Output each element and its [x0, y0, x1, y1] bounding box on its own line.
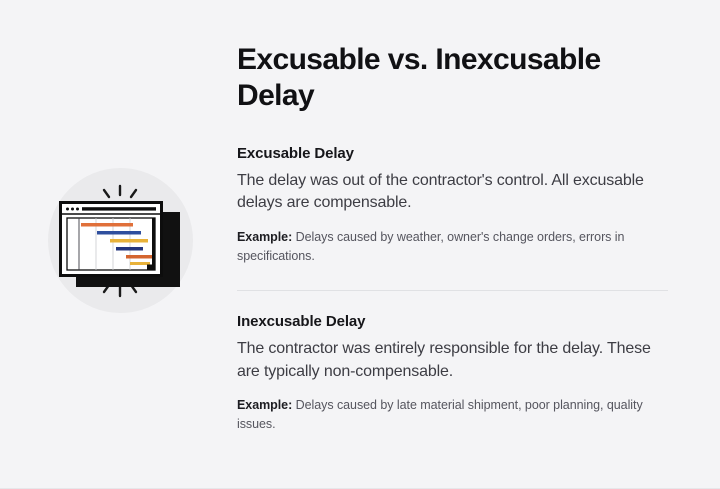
gantt-bar — [97, 231, 141, 235]
example-text-excusable: Delays caused by weather, owner's change… — [237, 230, 624, 263]
example-text-inexcusable: Delays caused by late material shipment,… — [237, 398, 643, 431]
example-label-excusable: Example: — [237, 230, 292, 244]
gantt-bar — [126, 255, 152, 259]
section-divider — [237, 290, 668, 291]
illustration-artwork — [48, 168, 193, 313]
section-body-excusable: The delay was out of the contractor's co… — [237, 170, 667, 215]
gantt-bar — [110, 239, 148, 243]
window-addressbar — [82, 207, 156, 210]
page-title: Excusable vs. Inexcusable Delay — [237, 42, 637, 115]
section-example-excusable: Example: Delays caused by weather, owner… — [237, 228, 649, 266]
gantt-chart-window-illustration — [48, 168, 193, 313]
section-heading-inexcusable: Inexcusable Delay — [237, 313, 668, 330]
burst-marks-top-icon — [104, 186, 136, 197]
gantt-bar — [81, 223, 133, 227]
section-example-inexcusable: Example: Delays caused by late material … — [237, 396, 649, 434]
content-column: Excusable vs. Inexcusable Delay Excusabl… — [225, 0, 720, 489]
section-inexcusable-delay: Inexcusable Delay The contractor was ent… — [237, 313, 668, 434]
gantt-corner-marker — [147, 265, 152, 270]
example-label-inexcusable: Example: — [237, 398, 292, 412]
section-body-inexcusable: The contractor was entirely responsible … — [237, 338, 667, 383]
section-excusable-delay: Excusable Delay The delay was out of the… — [237, 145, 668, 266]
gantt-bar — [116, 247, 143, 251]
illustration-column — [0, 0, 225, 489]
page-layout: Excusable vs. Inexcusable Delay Excusabl… — [0, 0, 720, 489]
section-heading-excusable: Excusable Delay — [237, 145, 668, 162]
titlebar-dots-icon — [66, 208, 79, 211]
gantt-scroll-edge — [152, 218, 155, 270]
